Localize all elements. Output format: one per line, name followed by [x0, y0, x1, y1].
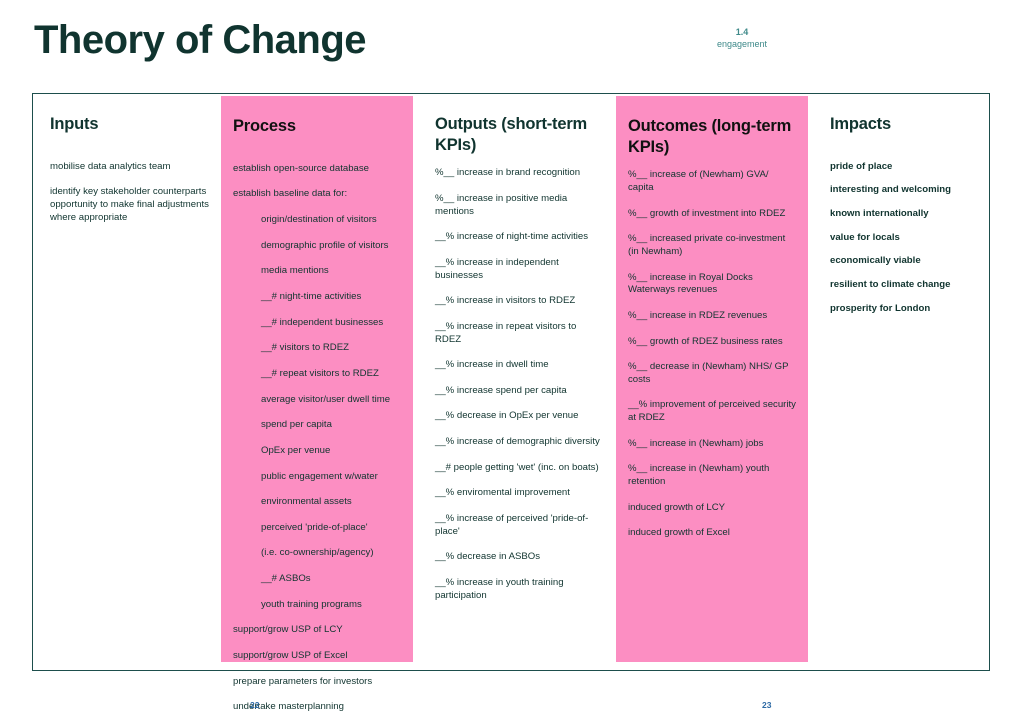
list-item: %__ growth of RDEZ business rates — [628, 336, 796, 349]
list-item: known internationally — [830, 208, 976, 221]
list-item: %__ increase in brand recognition — [435, 167, 604, 180]
list-item: __% increase of perceived 'pride-of-plac… — [435, 513, 604, 538]
list-item: __% increase in dwell time — [435, 359, 604, 372]
list-item: __# visitors to RDEZ — [233, 342, 401, 355]
list-item: %__ increase in positive media mentions — [435, 193, 604, 218]
list-item: __% increase in independent businesses — [435, 257, 604, 282]
list-item: %__ increased private co-investment (in … — [628, 233, 796, 258]
list-item: support/grow USP of Excel — [233, 650, 401, 663]
list-item: __% increase in youth training participa… — [435, 577, 604, 602]
list-item: prosperity for London — [830, 303, 976, 316]
list-item: %__ increase in RDEZ revenues — [628, 310, 796, 323]
list-item: %__ decrease in (Newham) NHS/ GP costs — [628, 361, 796, 386]
column-header-process: Process — [233, 116, 401, 137]
section-marker-label: engagement — [682, 38, 802, 50]
list-item: spend per capita — [233, 419, 401, 432]
list-item: __# people getting 'wet' (inc. on boats) — [435, 462, 604, 475]
column-outputs: Outputs (short-term KPIs) %__ increase i… — [423, 94, 616, 616]
list-item: demographic profile of visitors — [233, 240, 401, 253]
list-item: %__ increase in Royal Docks Waterways re… — [628, 272, 796, 297]
column-header-inputs: Inputs — [50, 114, 209, 135]
list-item: __# independent businesses — [233, 317, 401, 330]
list-item: youth training programs — [233, 599, 401, 612]
list-item: %__ increase of (Newham) GVA/ capita — [628, 169, 796, 194]
list-item: __% increase of night-time activities — [435, 231, 604, 244]
list-item: interesting and welcoming — [830, 184, 976, 197]
list-item: __# ASBOs — [233, 573, 401, 586]
list-item: %__ growth of investment into RDEZ — [628, 208, 796, 221]
list-item: origin/destination of visitors — [233, 214, 401, 227]
list-item: establish open-source database — [233, 163, 401, 176]
column-process: Process establish open-source database e… — [221, 96, 413, 662]
list-item: mobilise data analytics team — [50, 161, 209, 174]
list-item: media mentions — [233, 265, 401, 278]
column-header-outputs: Outputs (short-term KPIs) — [435, 114, 604, 155]
list-item: induced growth of LCY — [628, 502, 796, 515]
list-item: economically viable — [830, 255, 976, 268]
section-marker: 1.4 engagement — [682, 26, 802, 50]
list-item: environmental assets — [233, 496, 401, 509]
list-item: __% decrease in OpEx per venue — [435, 410, 604, 423]
list-item: (i.e. co-ownership/agency) — [233, 547, 401, 560]
list-item: __# night-time activities — [233, 291, 401, 304]
list-item: __% increase of demographic diversity — [435, 436, 604, 449]
page-number-left: 22 — [250, 700, 259, 710]
list-item: pride of place — [830, 161, 976, 174]
list-item: resilient to climate change — [830, 279, 976, 292]
list-item: public engagement w/water — [233, 471, 401, 484]
list-item: prepare parameters for investors — [233, 676, 401, 689]
list-item: __% enviromental improvement — [435, 487, 604, 500]
page-title: Theory of Change — [34, 18, 366, 62]
list-item: __% increase in visitors to RDEZ — [435, 295, 604, 308]
list-item: __% decrease in ASBOs — [435, 551, 604, 564]
list-item: __% increase spend per capita — [435, 385, 604, 398]
list-item: %__ increase in (Newham) youth retention — [628, 463, 796, 488]
list-item: perceived 'pride-of-place' — [233, 522, 401, 535]
column-inputs: Inputs mobilise data analytics team iden… — [38, 94, 221, 251]
column-header-outcomes: Outcomes (long-term KPIs) — [628, 116, 796, 157]
list-item: __% increase in repeat visitors to RDEZ — [435, 321, 604, 346]
list-item: induced growth of Excel — [628, 527, 796, 540]
list-item: __# repeat visitors to RDEZ — [233, 368, 401, 381]
list-item: support/grow USP of LCY — [233, 624, 401, 637]
column-header-impacts: Impacts — [830, 114, 976, 135]
list-item: %__ increase in (Newham) jobs — [628, 438, 796, 451]
theory-of-change-frame: Inputs mobilise data analytics team iden… — [32, 93, 990, 671]
column-impacts: Impacts pride of place interesting and w… — [818, 94, 988, 329]
list-item: OpEx per venue — [233, 445, 401, 458]
page-number-right: 23 — [762, 700, 771, 710]
list-item: __% improvement of perceived security at… — [628, 399, 796, 424]
list-item: establish baseline data for: — [233, 188, 401, 201]
list-item: average visitor/user dwell time — [233, 394, 401, 407]
list-item: value for locals — [830, 232, 976, 245]
section-marker-number: 1.4 — [682, 26, 802, 38]
list-item: identify key stakeholder counterparts op… — [50, 186, 209, 224]
column-outcomes: Outcomes (long-term KPIs) %__ increase o… — [616, 96, 808, 662]
